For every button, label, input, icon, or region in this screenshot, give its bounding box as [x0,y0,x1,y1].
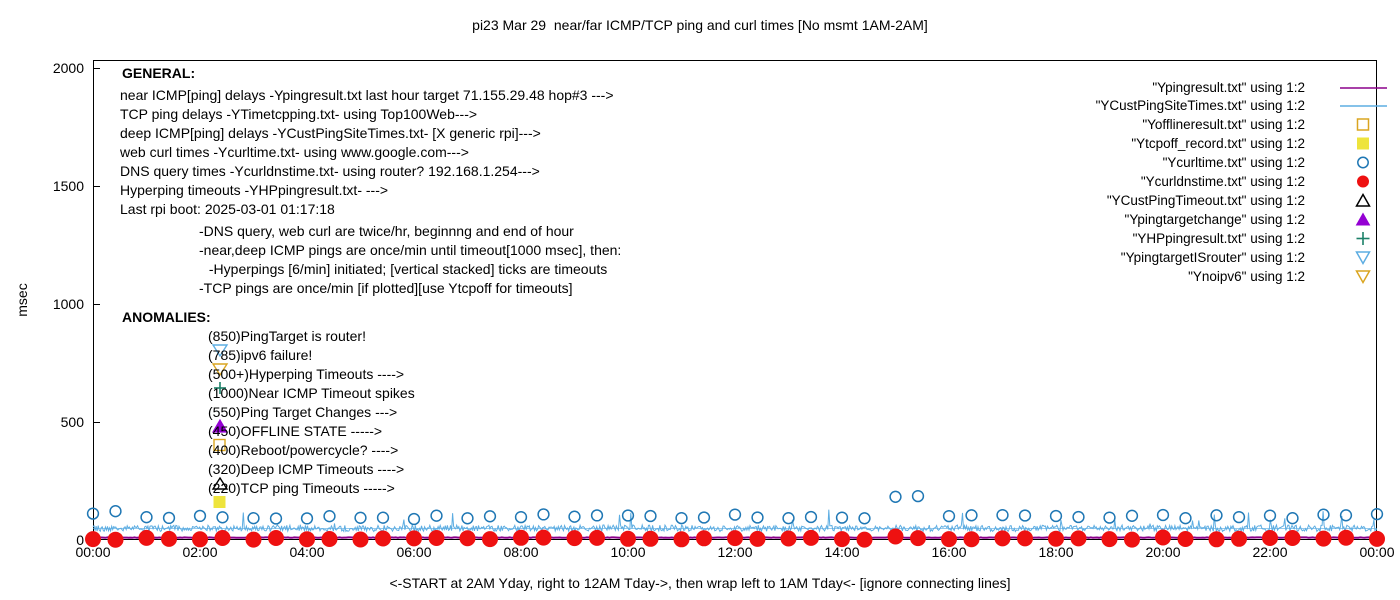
legend-row-ytcpoff: "Ytcpoff_record.txt" using 1:2 [1109,118,1305,135]
x-tick-mark-0 [93,533,94,540]
anomaly-label-7: (320)Deep ICMP Timeouts ----> [208,462,404,476]
legend-row-yofflineresult: "Yofflineresult.txt" using 1:2 [1120,99,1305,116]
x-tick-mark-3 [414,533,415,540]
legend-row-ycustpingsitetimes: "YCustPingSiteTimes.txt" using 1:2 [1073,80,1305,97]
general-line-3: web curl times -Ycurltime.txt- using www… [120,145,469,159]
filled-square-yellow-icon [186,480,208,496]
y-tick-mark-0 [93,540,100,541]
anomaly-label-8: (220)TCP ping Timeouts -----> [208,481,395,495]
open-triangle-up-black-icon [186,461,208,477]
x-tick-mark-1 [200,533,201,540]
legend-filled-triangle-up-purple-icon [1305,194,1365,211]
filled-triangle-up-purple-icon [186,404,208,420]
legend-filled-circle-red-icon [1305,156,1365,173]
x-tick-label-3: 06:00 [374,545,454,559]
x-tick-mark-9 [1056,533,1057,540]
anomaly-label-6: (400)Reboot/powercycle? ----> [208,443,398,457]
x-tick-mark-4 [521,533,522,540]
anomaly-row-1: (785)ipv6 failure! [186,347,202,363]
legend-filled-square-yellow-icon [1305,118,1365,135]
general-line-1: TCP ping delays -YTimetcpping.txt- using… [120,107,477,121]
anomaly-row-6: (400)Reboot/powercycle? ----> [186,442,202,458]
legend-open-square-orange-icon [1305,99,1365,116]
anomaly-label-0: (850)PingTarget is router! [208,329,366,343]
legend-open-triangle-down-blue-icon [1305,232,1365,249]
x-tick-label-0: 00:00 [53,545,133,559]
legend-line-lightblue-icon [1305,80,1365,97]
legend-row-ypingtargetisrouter: "YpingtargetISrouter" using 1:2 [1098,232,1305,249]
legend-row-ycustpingtimeout: "YCustPingTimeout.txt" using 1:2 [1084,175,1305,192]
anomalies-heading: ANOMALIES: [122,310,211,324]
general-note-1: -near,deep ICMP pings are once/min until… [199,243,621,257]
legend-row-ypingresult: "Ypingresult.txt" using 1:2 [1130,62,1305,79]
y-tick-label-500: 500 [14,415,84,429]
open-triangle-down-orange-icon [186,347,208,363]
anomaly-label-3: (1000)Near ICMP Timeout spikes [208,386,415,400]
y-tick-mark-500 [93,422,100,423]
chart-title: pi23 Mar 29 near/far ICMP/TCP ping and c… [0,17,1400,33]
general-note-0: -DNS query, web curl are twice/hr, begin… [199,224,574,238]
anomaly-row-3: (1000)Near ICMP Timeout spikes [186,385,202,401]
general-line-5: Hyperping timeouts -YHPpingresult.txt- -… [120,183,388,197]
x-tick-mark-11 [1270,533,1271,540]
no-symbol-icon [186,385,208,401]
chart-canvas: pi23 Mar 29 near/far ICMP/TCP ping and c… [0,0,1400,600]
x-tick-label-6: 12:00 [695,545,775,559]
no-symbol-icon [186,442,208,458]
legend-open-circle-blue-icon [1305,137,1365,154]
x-tick-label-4: 08:00 [481,545,561,559]
y-tick-label-1500: 1500 [14,179,84,193]
x-tick-label-12: 00:00 [1337,545,1400,559]
x-tick-label-11: 22:00 [1230,545,1310,559]
y-tick-label-1000: 1000 [14,297,84,311]
x-tick-label-7: 14:00 [802,545,882,559]
legend-row-yhppingresult: "YHPpingresult.txt" using 1:2 [1110,213,1305,230]
x-tick-mark-8 [949,533,950,540]
x-tick-mark-6 [735,533,736,540]
general-line-0: near ICMP[ping] delays -Ypingresult.txt … [120,88,614,102]
open-triangle-down-blue-icon [186,328,208,344]
anomaly-label-2: (500+)Hyperping Timeouts ----> [208,367,404,381]
x-axis-label: <-START at 2AM Yday, right to 12AM Tday-… [0,575,1400,591]
anomaly-row-2: (500+)Hyperping Timeouts ----> [186,366,202,382]
y-tick-mark-1500 [93,186,100,187]
general-note-2: -Hyperpings [6/min] initiated; [vertical… [205,262,607,276]
anomaly-row-5: (450)OFFLINE STATE -----> [186,423,202,439]
x-tick-mark-5 [628,533,629,540]
x-tick-mark-2 [307,533,308,540]
general-line-6: Last rpi boot: 2025-03-01 01:17:18 [120,202,335,216]
x-tick-label-1: 02:00 [160,545,240,559]
anomaly-row-8: (220)TCP ping Timeouts -----> [186,480,202,496]
legend-open-triangle-up-black-icon [1305,175,1365,192]
x-tick-label-10: 20:00 [1123,545,1203,559]
legend-row-ycurldnstime: "Ycurldnstime.txt" using 1:2 [1118,156,1305,173]
legend-row-ypingtargetchange: "Ypingtargetchange" using 1:2 [1102,194,1305,211]
legend-open-triangle-down-orange-icon [1305,251,1365,268]
anomaly-label-5: (450)OFFLINE STATE -----> [208,424,382,438]
x-tick-label-5: 10:00 [588,545,668,559]
general-line-2: deep ICMP[ping] delays -YCustPingSiteTim… [120,126,541,140]
y-tick-mark-2000 [93,68,100,69]
legend-plus-green-icon [1305,213,1365,230]
general-heading: GENERAL: [122,66,195,80]
anomaly-row-4: (550)Ping Target Changes ---> [186,404,202,420]
x-tick-label-8: 16:00 [909,545,989,559]
general-line-4: DNS query times -Ycurldnstime.txt- using… [120,164,540,178]
legend-label-ynoipv6: "Ynoipv6" using 1:2 [1188,269,1305,284]
plus-green-icon [186,366,208,382]
y-tick-label-2000: 2000 [14,61,84,75]
anomaly-label-4: (550)Ping Target Changes ---> [208,405,397,419]
x-tick-label-9: 18:00 [1016,545,1096,559]
general-note-3: -TCP pings are once/min [if plotted][use… [199,281,573,295]
x-tick-mark-10 [1163,533,1164,540]
x-tick-label-2: 04:00 [267,545,347,559]
anomaly-row-7: (320)Deep ICMP Timeouts ----> [186,461,202,477]
open-square-orange-icon [186,423,208,439]
anomaly-label-1: (785)ipv6 failure! [208,348,312,362]
x-tick-mark-7 [842,533,843,540]
legend-line-purple-icon [1305,62,1365,79]
anomaly-row-0: (850)PingTarget is router! [186,328,202,344]
x-tick-mark-12 [1377,533,1378,540]
legend-row-ynoipv6: "Ynoipv6" using 1:2 [1166,251,1305,268]
legend-row-ycurltime: "Ycurltime.txt" using 1:2 [1140,137,1305,154]
y-tick-mark-1000 [93,304,100,305]
